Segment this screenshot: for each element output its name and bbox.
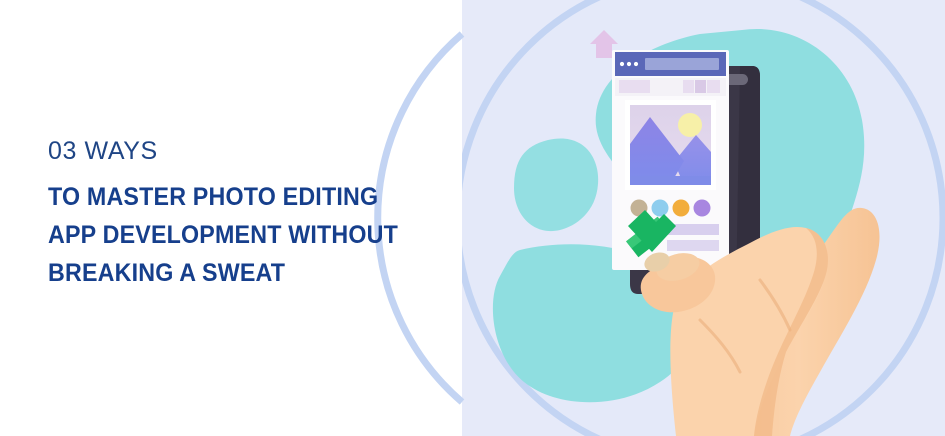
titlebar-dot-icon[interactable]: [620, 62, 624, 66]
swatch-purple[interactable]: [694, 200, 711, 217]
headline-line-2: APP DEVELOPMENT WITHOUT: [48, 216, 420, 254]
option-bar-2[interactable]: [667, 240, 719, 251]
toolbar-chip[interactable]: [619, 80, 650, 93]
photo-canvas[interactable]: [625, 100, 716, 190]
app-window: [612, 50, 729, 270]
photo-water: [630, 176, 711, 185]
titlebar-dot-icon[interactable]: [627, 62, 631, 66]
sun-icon: [678, 113, 702, 137]
headline-block: 03 WAYS TO MASTER PHOTO EDITING APP DEVE…: [48, 136, 448, 292]
promo-banner: 03 WAYS TO MASTER PHOTO EDITING APP DEVE…: [0, 0, 945, 436]
titlebar-dot-icon[interactable]: [634, 62, 638, 66]
toolbar-chip[interactable]: [707, 80, 720, 93]
toolbar-chip[interactable]: [683, 80, 694, 93]
swatch-blue[interactable]: [652, 200, 669, 217]
address-bar[interactable]: [645, 58, 719, 70]
toolbar-chip[interactable]: [695, 80, 706, 93]
headline-line-3: BREAKING A SWEAT: [48, 254, 420, 292]
eyebrow-text: 03 WAYS: [48, 136, 448, 166]
page-title: TO MASTER PHOTO EDITING APP DEVELOPMENT …: [48, 178, 420, 292]
swatch-orange[interactable]: [673, 200, 690, 217]
headline-line-1: TO MASTER PHOTO EDITING: [48, 178, 420, 216]
